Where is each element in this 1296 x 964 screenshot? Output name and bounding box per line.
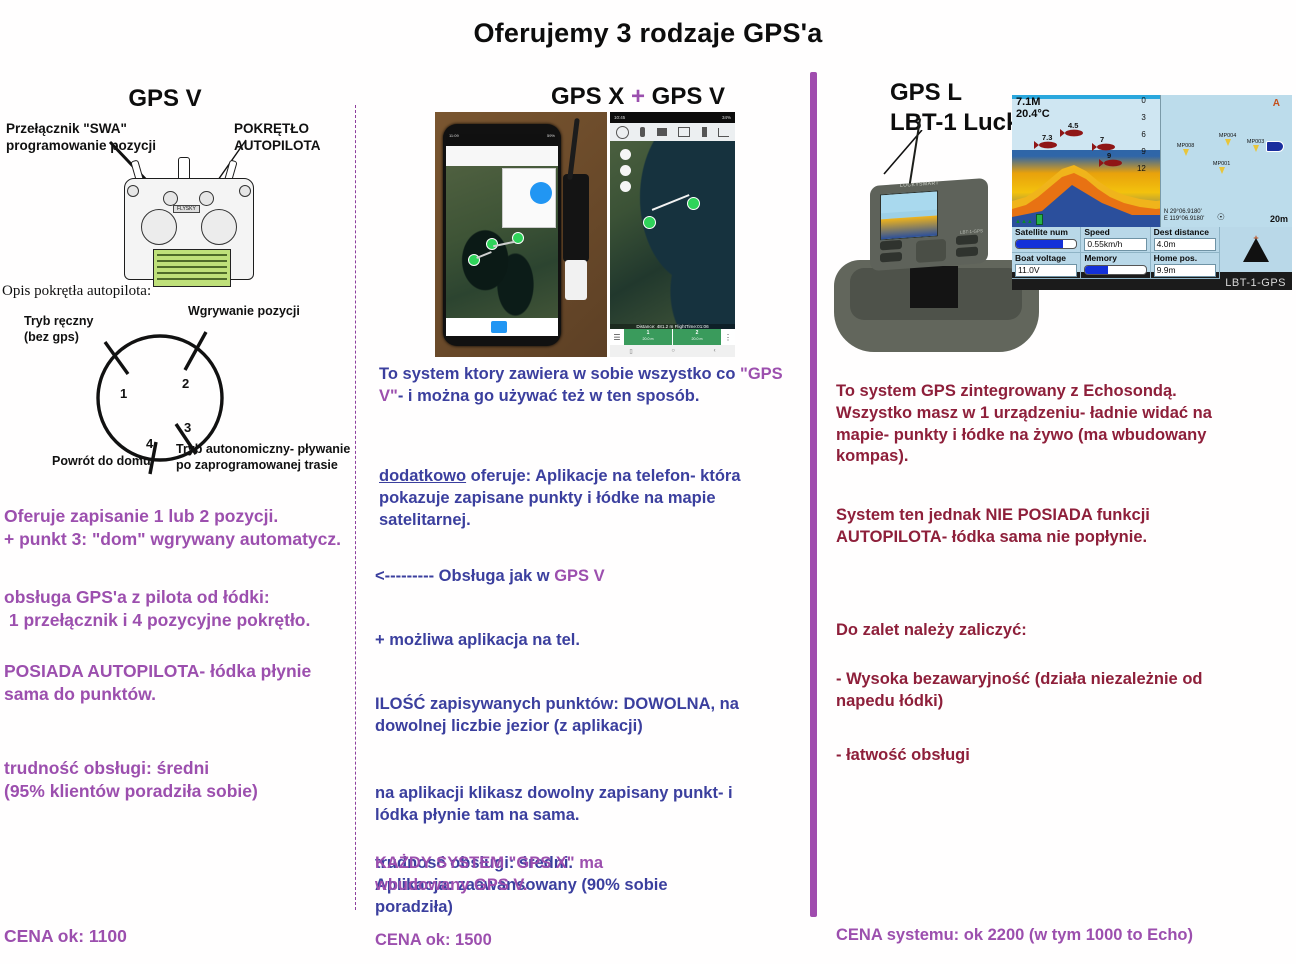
left-text-difficulty: trudność obsługi: średni (95% klientów p… (4, 757, 354, 803)
mid-text-intro-a: To system ktory zawiera w sobie wszystko… (379, 365, 740, 383)
left-text-positions-l1: Oferuje zapisanie 1 lub 2 pozycji. (4, 505, 354, 528)
mid-text-points-l2: dowolnej liczbie jezior (z aplikacji) (375, 716, 795, 738)
fishfinder-brand: LBT-1-GPS (1225, 277, 1286, 289)
switch-swd (239, 185, 251, 197)
right-price: CENA systemu: ok 2200 (w tym 1000 to Ech… (836, 925, 1296, 947)
mid-text-intro-b: - i można go używać też w ten sposób. (398, 387, 700, 405)
transmitter-module (563, 174, 589, 262)
mid-text-app: dodatkowo oferuje: Aplikacje na telefon-… (379, 466, 799, 531)
map-flight-time: FlightTime:01:06 (675, 324, 709, 329)
dpad[interactable] (916, 239, 946, 263)
column-gps-x: GPS X + GPS V 11:09 59% (363, 0, 810, 964)
button-right-bottom[interactable] (956, 247, 978, 258)
phone-b-waypoint-bar[interactable]: ☰ 1 20.0 m 2 20.0 m ⋮ (610, 329, 735, 345)
dial-label-manual: Tryb ręczny(bez gps) (24, 314, 93, 345)
flysky-transmitter-illustration: FLYSKY (118, 160, 258, 285)
dial-number-3: 3 (184, 420, 191, 435)
heading-gps-x-a: GPS X (551, 83, 624, 110)
mid-text-same-as-gpsv: <--------- Obsługa jak w GPS V (375, 566, 795, 588)
button-right-top[interactable] (956, 235, 978, 246)
route-line (652, 194, 690, 210)
map-btn-3[interactable] (620, 181, 631, 192)
heading-gps-x-b: GPS V (652, 83, 725, 110)
left-text-autopilot-l1: POSIADA AUTOPILOTA- łódka płynie (4, 660, 354, 683)
left-text-remote-l2: 1 przełącznik i 4 pozycyjne pokrętło. (4, 609, 354, 632)
left-text-positions: Oferuje zapisanie 1 lub 2 pozycji. + pun… (4, 505, 354, 551)
waypoint-mp001: MP001 (1213, 161, 1230, 174)
right-text-intro-l1: To system GPS zintegrowany z Echosondą. (836, 381, 1286, 403)
wp2-depth: 20.0 m (692, 337, 703, 341)
mid-text-click: na aplikacji klikasz dowolny zapisany pu… (375, 783, 795, 827)
marker-icon[interactable] (640, 127, 645, 137)
column-gps-v: GPS V Przełącznik "SWA" programowanie po… (0, 0, 355, 964)
data-cells: Satellite num Speed 0.55km/h Dest distan… (1012, 227, 1220, 272)
phone-b-map[interactable]: Distance: 481.2 m FlightTime:01:06 (610, 141, 735, 329)
nav-recents-icon[interactable]: ▯ (629, 348, 632, 355)
left-text-positions-l2: + punkt 3: "dom" wgrywany automatycz. (4, 528, 354, 551)
right-text-intro-l3: mapie- punkty i łódke na żywo (ma wbudow… (836, 425, 1286, 447)
wp2-label: 2 (696, 330, 699, 336)
right-text-advantage-1-l2: napedu łódki) (836, 691, 1286, 713)
mid-text-arrow: <--------- Obsługa jak w (375, 567, 554, 585)
button-left-bottom[interactable] (880, 252, 902, 263)
head-unit-screen (880, 190, 938, 240)
memory-bar (1084, 265, 1146, 275)
phone-b-navbar[interactable]: ▯ ○ ‹ (610, 345, 735, 357)
left-text-autopilot-l2: sama do punktów. (4, 683, 354, 706)
layers-icon[interactable] (657, 128, 667, 136)
fishfinder-screen-photo: 7.1M 20.4°C 0 3 6 9 12 4.5 7.3 7 (1012, 95, 1292, 290)
heading-plus: + (631, 83, 645, 110)
phone-a-map (446, 166, 558, 318)
waypoint-marker-1[interactable] (643, 216, 656, 229)
mid-text-every-system-l1: KAŻDY SYSTEM "GPS X" ma (375, 853, 795, 875)
gimbal-left (141, 209, 177, 245)
overflow-menu-icon[interactable]: ⋮ (721, 329, 735, 345)
dial-label-autonomous: Tryb autonomiczny- pływaniepo zaprogramo… (176, 442, 350, 473)
transmitter-lcd (153, 249, 231, 287)
phone-a-time: 11:09 (449, 133, 459, 138)
mid-text-click-l2: lódka płynie tam na sama. (375, 805, 795, 827)
device-antenna (909, 118, 921, 184)
undo-icon[interactable] (718, 128, 729, 137)
head-unit-label: LBT-1-GPS (960, 228, 983, 235)
sonar-panel: 7.1M 20.4°C 0 3 6 9 12 4.5 7.3 7 (1012, 95, 1160, 227)
cell-boat-voltage: Boat voltage 11.0V (1012, 253, 1081, 279)
waypoint-mp003: MP003 (1247, 139, 1264, 152)
route-icon[interactable] (678, 127, 690, 137)
phone-photo-app: 10:45 34% (610, 112, 735, 357)
right-text-advantage-1-l1: - Wysoka bezawaryjność (działa niezależn… (836, 669, 1286, 691)
mid-price: CENA ok: 1500 (375, 930, 492, 952)
phone-photo-handheld: 11:09 59% (435, 112, 607, 357)
dial-number-4: 4 (146, 436, 153, 451)
phone-b-battery: 34% (722, 115, 731, 120)
coordinates: N 29°06.9180' E 119°06.9180' (1164, 209, 1204, 223)
column-gps-l: GPS L LBT-1 Lucky LUCKYSMART LBT-1-GPS (822, 0, 1296, 964)
cell-satellite-num: Satellite num (1012, 227, 1081, 253)
signal-icon: ▲▲▲ (1015, 219, 1033, 225)
right-text-advantage-2: - łatwość obsługi (836, 745, 1286, 767)
left-text-remote: obsługa GPS'a z pilota od łódki: 1 przeł… (4, 586, 354, 632)
module-cable-plug (565, 260, 587, 300)
right-text-no-autopilot-l1: System ten jednak NIE POSIADA funkcji (836, 505, 1286, 527)
knob-left (163, 191, 178, 206)
left-text-remote-l1: obsługa GPS'a z pilota od łódki: (4, 586, 354, 609)
compass-icon: ☉ (1217, 212, 1225, 223)
left-price: CENA ok: 1100 (4, 925, 354, 948)
phone-b-toolbar[interactable] (610, 123, 735, 141)
mid-text-every-system-l2: wbudowany GPS V. (375, 875, 795, 897)
mid-text-gpsv: GPS V (554, 567, 604, 585)
phone-photos: 11:09 59% (435, 112, 735, 357)
gimbal-right (201, 209, 237, 245)
mid-text-points-l1: ILOŚĆ zapisywanych punktów: DOWOLNA, na (375, 694, 795, 716)
right-text-intro-l2: Wszystko masz w 1 urządzeniu- ładnie wid… (836, 403, 1286, 425)
knob-description-caption: Opis pokrętła autopilota: (2, 283, 151, 300)
head-unit-brand: LUCKYSMART (900, 180, 939, 189)
dial-number-2: 2 (182, 376, 189, 391)
satellite-bar (1015, 239, 1077, 249)
fish-icons (1012, 95, 1160, 227)
mid-text-click-l1: na aplikacji klikasz dowolny zapisany pu… (375, 783, 795, 805)
poster-root: Oferujemy 3 rodzaje GPS'a GPS V Przełącz… (0, 0, 1296, 964)
right-text-no-autopilot: System ten jednak NIE POSIADA funkcji AU… (836, 505, 1286, 549)
map-distance: Distance: 481.2 m (636, 324, 673, 329)
cell-dest-distance: Dest distance 4.0m (1151, 227, 1220, 253)
transmitter-body: FLYSKY (124, 178, 254, 280)
mid-text-difficulty-l3: poradziła) (375, 897, 795, 919)
divider-middle-right (810, 72, 817, 917)
list-icon[interactable] (702, 127, 707, 137)
phone-a-body: 11:09 59% (443, 124, 561, 346)
button-left-top[interactable] (880, 240, 902, 251)
right-text-advantages-heading: Do zalet należy zaliczyć: (836, 620, 1286, 642)
cell-memory: Memory (1081, 253, 1150, 279)
target-icon[interactable] (616, 126, 629, 139)
phone-a-battery: 59% (547, 133, 555, 138)
divider-left-middle (355, 105, 356, 910)
heading-arrow-icon (1243, 238, 1269, 262)
hamburger-icon[interactable]: ☰ (610, 329, 624, 345)
heading-compass: + (1220, 227, 1292, 272)
coord-north: N 29°06.9180' (1164, 209, 1204, 216)
cell-home-pos: Home pos. 9.9m (1151, 253, 1220, 279)
left-text-difficulty-l2: (95% klientów poradziła sobie) (4, 780, 354, 803)
knob-right (199, 191, 214, 206)
coord-east: E 119°06.9180' (1164, 216, 1204, 223)
left-text-difficulty-l1: trudność obsługi: średni (4, 757, 354, 780)
right-text-intro-l4: kompas). (836, 446, 1286, 468)
mid-text-every-system: KAŻDY SYSTEM "GPS X" ma wbudowany GPS V. (375, 853, 795, 897)
nav-back-icon[interactable]: ‹ (714, 348, 716, 354)
dial-number-1: 1 (120, 386, 127, 401)
autopilot-dial-diagram: Tryb ręczny(bez gps) Wgrywanie pozycji P… (10, 302, 355, 477)
map-btn-1[interactable] (620, 149, 631, 160)
wp1-depth: 20.0 m (643, 337, 654, 341)
column-heading-gps-x: GPS X + GPS V (508, 82, 768, 112)
waypoint-mp008: MP008 (1177, 143, 1194, 156)
mid-text-points: ILOŚĆ zapisywanych punktów: DOWOLNA, na … (375, 694, 795, 738)
mode-indicator: A (1273, 98, 1280, 109)
chartplotter-panel: A MP004 MP003 MP008 MP001 (1160, 95, 1292, 227)
map-scale: 20m (1270, 214, 1288, 224)
dial-label-upload: Wgrywanie pozycji (188, 304, 300, 320)
phone-b-time: 10:45 (614, 115, 625, 120)
right-text-intro: To system GPS zintegrowany z Echosondą. … (836, 381, 1286, 468)
fishfinder-top-panels: 7.1M 20.4°C 0 3 6 9 12 4.5 7.3 7 (1012, 95, 1292, 227)
mid-text-app-possible: + możliwa aplikacja na tel. (375, 630, 795, 652)
fishfinder-data-strip: Satellite num Speed 0.55km/h Dest distan… (1012, 227, 1292, 272)
hull-bay (910, 266, 958, 308)
left-text-autopilot: POSIADA AUTOPILOTA- łódka płynie sama do… (4, 660, 354, 706)
mid-text-app-lead: dodatkowo (379, 467, 466, 485)
right-text-advantage-1: - Wysoka bezawaryjność (działa niezależn… (836, 669, 1286, 713)
map-btn-2[interactable] (620, 165, 631, 176)
right-text-no-autopilot-l2: AUTOPILOTA- łódka sama nie popłynie. (836, 527, 1286, 549)
mid-text-intro: To system ktory zawiera w sobie wszystko… (379, 364, 799, 408)
dial-label-home: Powrót do domu (52, 454, 151, 470)
head-unit: LUCKYSMART LBT-1-GPS (870, 178, 988, 271)
nav-home-icon[interactable]: ○ (671, 348, 675, 354)
brand-plate: FLYSKY (173, 205, 200, 213)
waypoint-marker-2[interactable] (687, 197, 700, 210)
wp1-label: 1 (647, 330, 650, 336)
battery-icon (1036, 214, 1043, 225)
waypoint-mp004: MP004 (1219, 133, 1236, 146)
cell-speed: Speed 0.55km/h (1081, 227, 1150, 253)
boat-icon (1266, 141, 1284, 152)
switch-swa (127, 185, 139, 197)
